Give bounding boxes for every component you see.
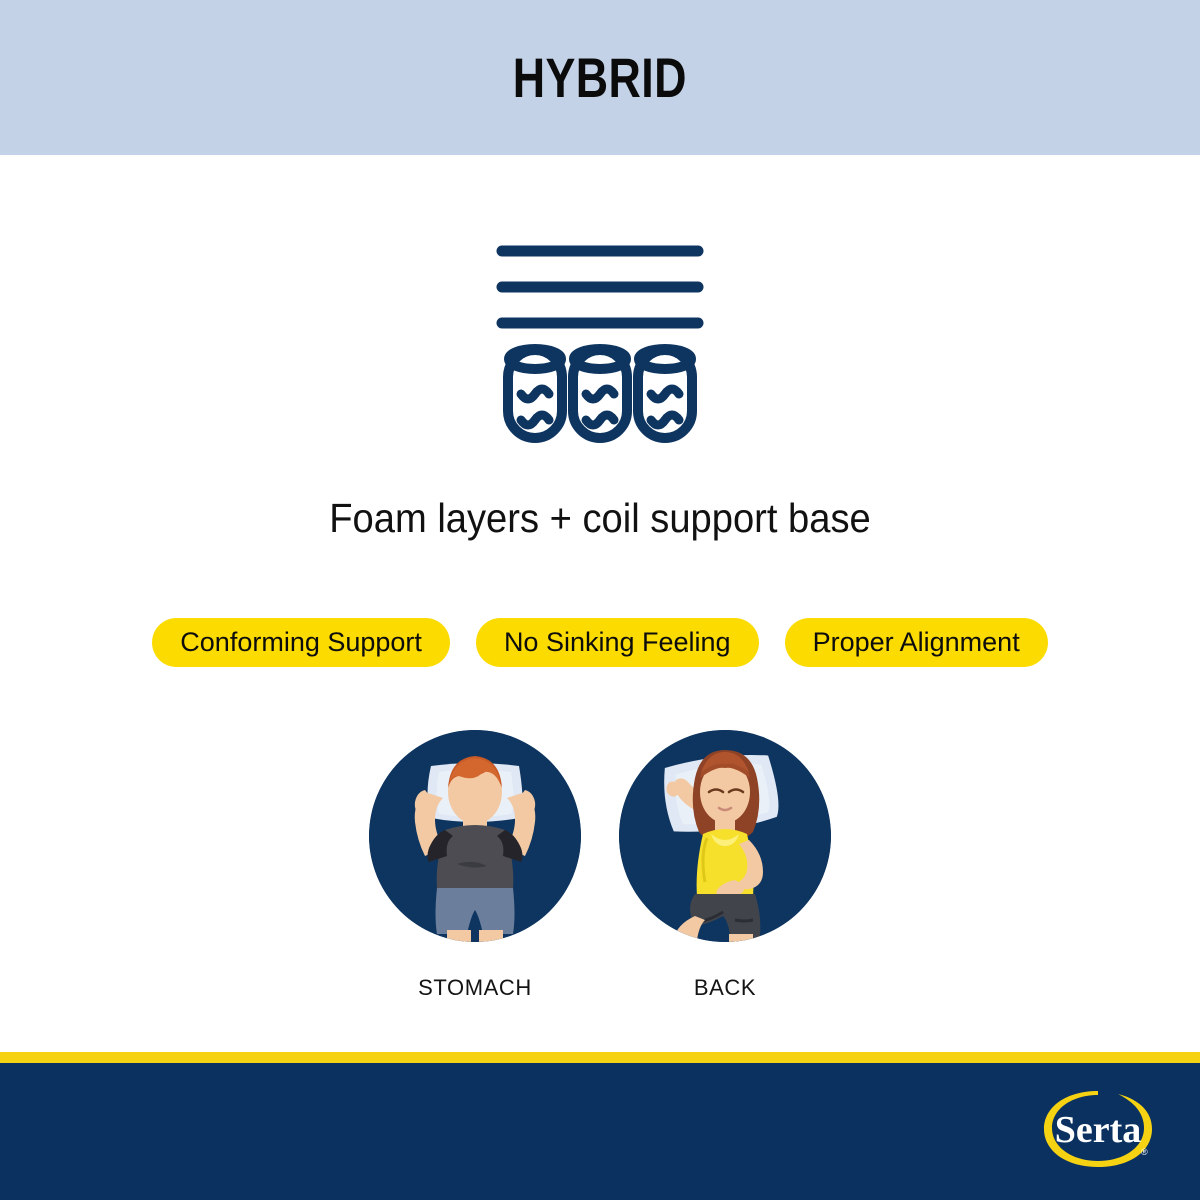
sleep-position-stomach[interactable]: STOMACH	[369, 730, 581, 1001]
coil-group	[508, 349, 692, 438]
sleep-position-row: STOMACH	[0, 730, 1200, 1001]
coil-1	[508, 349, 562, 438]
footer-bar	[0, 1063, 1200, 1200]
serta-wordmark: Serta	[1055, 1109, 1142, 1151]
sleep-position-back[interactable]: BACK	[619, 730, 831, 1001]
torso	[428, 825, 523, 888]
trademark-symbol: ®	[1141, 1147, 1148, 1157]
face	[700, 752, 750, 823]
coil-2	[573, 349, 627, 438]
head	[448, 756, 502, 824]
coil-3	[638, 349, 692, 438]
serta-logo[interactable]: Serta ®	[1038, 1083, 1158, 1183]
sleep-position-label-back: BACK	[694, 975, 756, 1001]
infographic-page: HYBRID	[0, 0, 1200, 1200]
sleep-position-label-stomach: STOMACH	[418, 975, 532, 1001]
stomach-sleeper-illustration	[369, 730, 581, 942]
hybrid-mattress-icon	[0, 215, 1200, 455]
feature-pill-proper-alignment[interactable]: Proper Alignment	[785, 618, 1048, 667]
header-band: HYBRID	[0, 0, 1200, 155]
page-title: HYBRID	[513, 45, 687, 110]
footer-accent-stripe	[0, 1052, 1200, 1063]
feature-pill-no-sinking-feeling[interactable]: No Sinking Feeling	[476, 618, 759, 667]
back-sleeper-illustration	[619, 730, 831, 942]
feature-pill-row: Conforming Support No Sinking Feeling Pr…	[0, 618, 1200, 667]
construction-subtitle: Foam layers + coil support base	[42, 495, 1158, 542]
feature-pill-conforming-support[interactable]: Conforming Support	[152, 618, 450, 667]
foam-layer-lines	[502, 251, 698, 323]
